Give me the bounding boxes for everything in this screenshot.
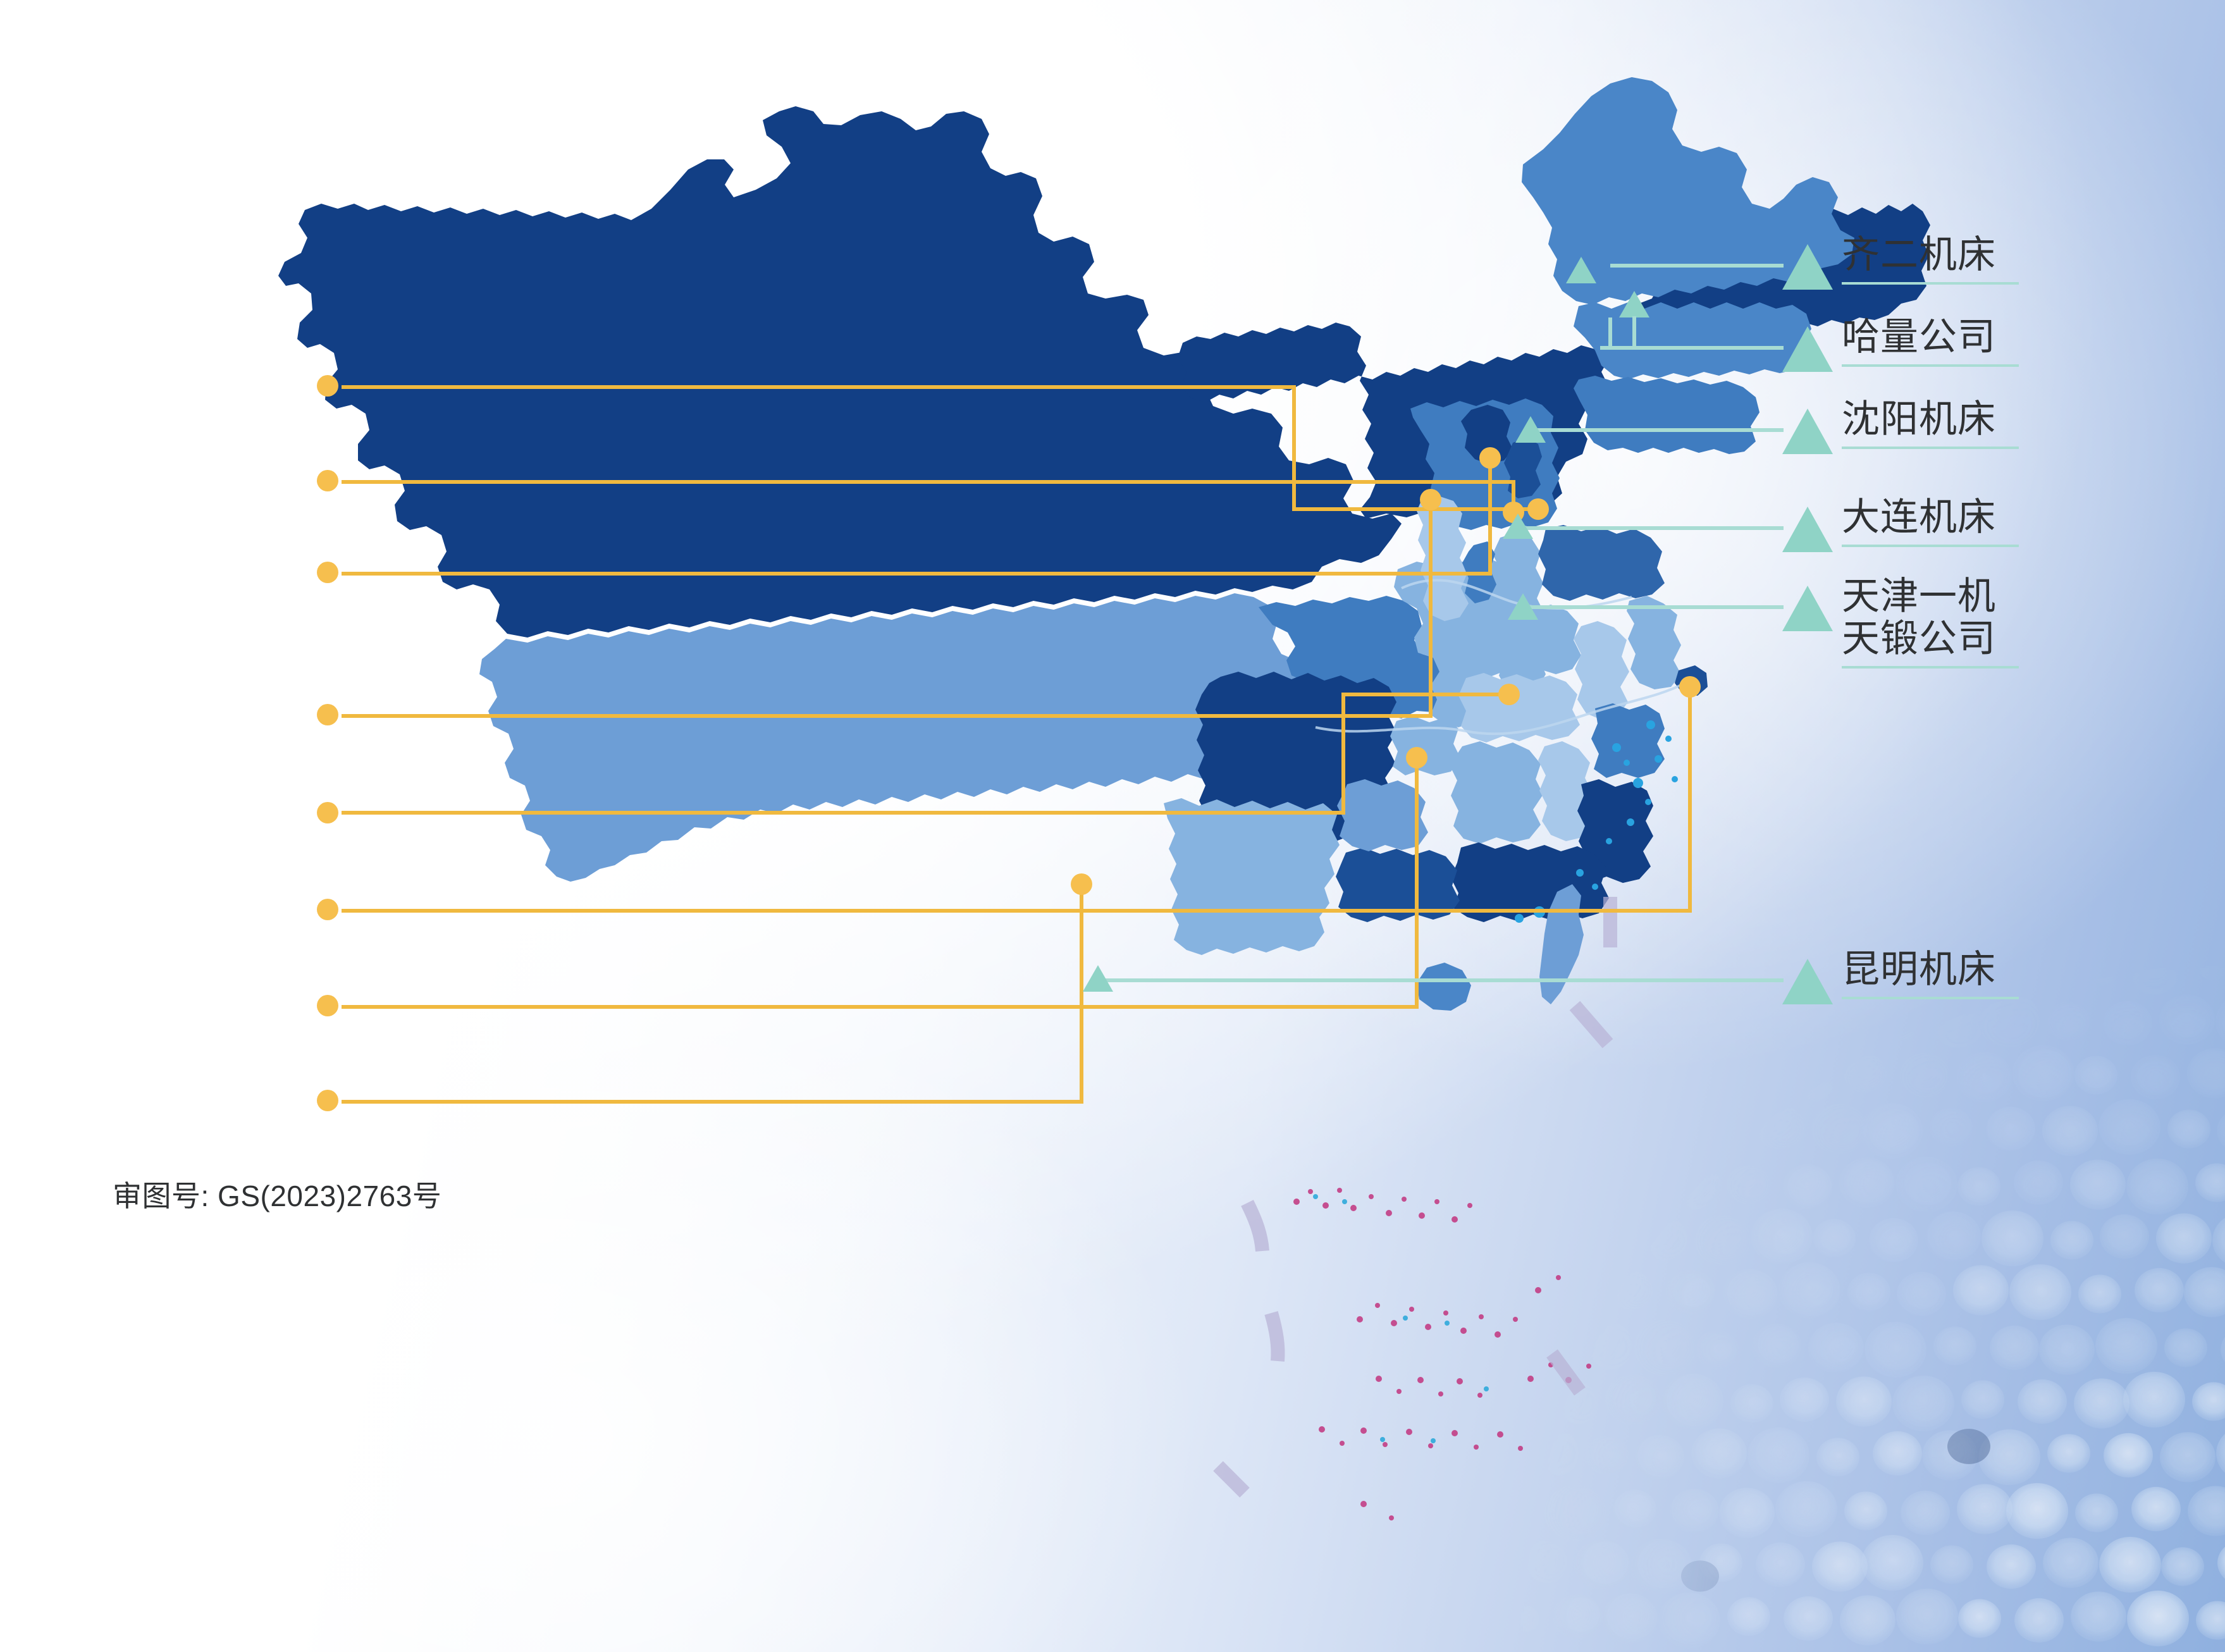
tri-shenyang: [1782, 409, 1833, 454]
province-yunnan: [1164, 798, 1340, 955]
right-label-text: 哈量公司: [1842, 316, 2069, 358]
province-liaoning: [1574, 376, 1760, 454]
endpoint-kunming: [1071, 873, 1092, 895]
province-jiangsu: [1627, 596, 1681, 689]
right-label-underline: [1842, 545, 2019, 547]
leader-kunming: [342, 884, 1082, 1102]
tri-dalian: [1782, 507, 1833, 552]
left-label-dot-marker[interactable]: [317, 375, 338, 397]
province-zhejiang: [1591, 703, 1665, 778]
endpoint-xian: [1498, 684, 1520, 705]
endpoint-shanghai: [1679, 676, 1701, 698]
south-china-sea-islands: [1293, 1188, 1591, 1520]
right-label-item[interactable]: 天津一机天锻公司: [1842, 575, 2069, 669]
right-label-item[interactable]: 昆明机床: [1842, 948, 2069, 999]
right-label-underline: [1842, 666, 2019, 669]
macau-marker: [1515, 914, 1524, 923]
left-label-dot-marker[interactable]: [317, 802, 338, 823]
map-approval-number: 审图号: GS(2023)2763号: [113, 1173, 441, 1215]
left-label-dot-marker[interactable]: [317, 704, 338, 725]
endpoint-tianjin: [1420, 489, 1441, 510]
province-shandong: [1538, 525, 1665, 601]
right-label-text: 昆明机床: [1842, 948, 2069, 990]
left-label-dot-marker[interactable]: [317, 470, 338, 491]
tri-kunming: [1782, 959, 1833, 1004]
endpoint-beijing: [1479, 447, 1501, 469]
map-provinces: [278, 77, 1930, 1520]
right-label-item[interactable]: 大连机床: [1842, 496, 2069, 547]
right-label-text: 沈阳机床: [1842, 398, 2069, 440]
infographic-canvas: 沈阳研究院大连研究院机床研究院总院北京研究院天津研究院西安研究院上海研究院重庆研…: [0, 0, 2225, 1652]
right-label-text: 大连机床: [1842, 496, 2069, 538]
tri-tianjin: [1782, 586, 1833, 631]
left-label-dot-marker[interactable]: [317, 562, 338, 583]
right-label-underline: [1842, 364, 2019, 367]
right-label-item[interactable]: 齐二机床: [1842, 233, 2069, 285]
province-guizhou: [1337, 779, 1428, 851]
province-shanxi: [1417, 496, 1469, 621]
endpoint-chongqing: [1406, 747, 1427, 768]
right-label-item[interactable]: 沈阳机床: [1842, 398, 2069, 449]
province-hainan: [1417, 963, 1471, 1011]
south-china-sea-islands-blue: [1313, 1194, 1489, 1443]
left-label-dot-marker[interactable]: [317, 899, 338, 920]
right-label-underline: [1842, 997, 2019, 999]
left-label-dot-marker[interactable]: [317, 1090, 338, 1111]
right-label-item[interactable]: 哈量公司: [1842, 316, 2069, 367]
left-label-dot-marker[interactable]: [317, 995, 338, 1016]
right-label-underline: [1842, 282, 2019, 285]
right-label-text: 天锻公司: [1842, 617, 2069, 660]
endpoint-shenyang: [1527, 498, 1549, 520]
right-label-text: 齐二机床: [1842, 233, 2069, 276]
right-label-text: 天津一机: [1842, 575, 2069, 617]
right-label-underline: [1842, 447, 2019, 449]
province-hunan: [1450, 741, 1543, 844]
